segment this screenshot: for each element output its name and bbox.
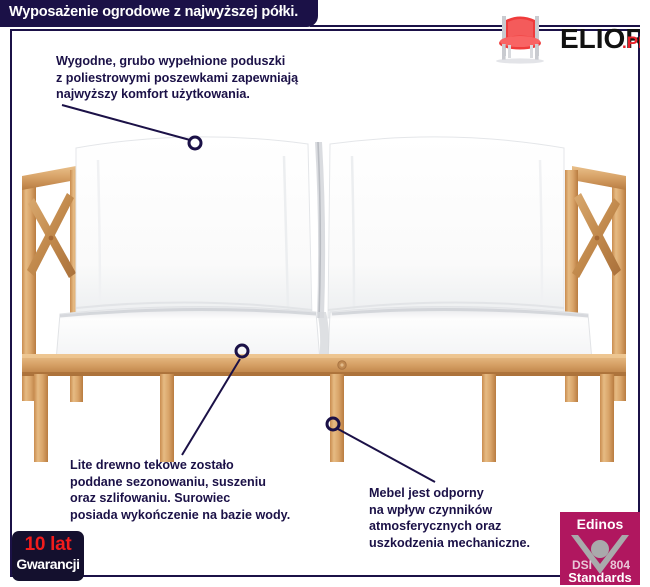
edinos-title-text: Edinos <box>577 516 624 532</box>
warranty-text-label: Gwarancji <box>12 556 84 572</box>
callout-1-text: Wygodne, grubo wypełnione poduszki z pol… <box>56 53 298 103</box>
warranty-years-label: 10 lat <box>12 534 84 556</box>
teak-garden-sofa-image <box>12 118 638 463</box>
logo-tld-text: .PL <box>622 33 640 52</box>
edinos-subtitle-text: Standards <box>568 570 632 585</box>
product-info-graphic: Wyposażenie ogrodowe z najwyższej półki. <box>0 0 650 587</box>
warranty-badge: 10 lat Gwarancji <box>12 531 84 581</box>
header-bar: Wyposażenie ogrodowe z najwyższej półki. <box>0 0 318 27</box>
sofa-legs <box>34 374 614 462</box>
callout-2-text: Lite drewno tekowe zostało poddane sezon… <box>70 457 290 523</box>
chair-icon <box>496 16 544 64</box>
sofa-seat-rail <box>22 354 626 376</box>
callout-3-text: Mebel jest odporny na wpływ czynników at… <box>369 485 530 551</box>
page-title: Wyposażenie ogrodowe z najwyższej półki. <box>9 4 298 20</box>
sofa-back-cushions <box>76 137 564 318</box>
edinos-standards-badge: Edinos DSI 804 Standards <box>560 512 640 585</box>
elior-logo[interactable]: ELIOR .PL <box>482 12 640 64</box>
